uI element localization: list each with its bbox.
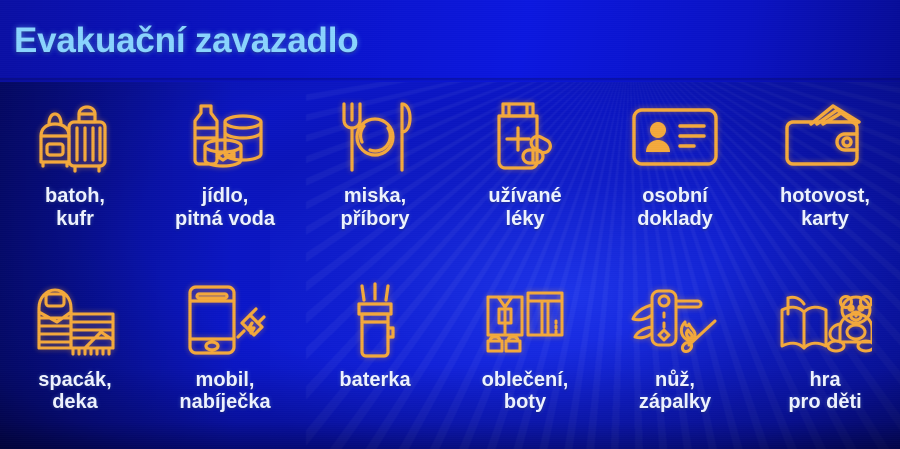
item-label: oblečení, boty (482, 369, 569, 414)
wallet-cards-icon (770, 94, 880, 180)
medicine-bottle-pills-icon (470, 94, 580, 180)
water-bottle-canned-food-icon (170, 94, 280, 180)
item-miska-pribory: miska, příbory (300, 82, 450, 266)
item-label: baterka (339, 369, 410, 392)
item-baterka: baterka (300, 266, 450, 449)
id-card-icon (620, 94, 730, 180)
item-obleceni-boty: oblečení, boty (450, 266, 600, 449)
mobile-phone-charger-icon (170, 278, 280, 364)
item-label: batoh, kufr (45, 185, 105, 230)
flashlight-icon (320, 278, 430, 364)
item-label: jídlo, pitná voda (175, 185, 275, 230)
item-uzivane-leky: užívané léky (450, 82, 600, 266)
page-title: Evakuační zavazadlo (14, 21, 358, 61)
item-osobni-doklady: osobní doklady (600, 82, 750, 266)
pocket-knife-matches-icon (620, 278, 730, 364)
item-nuz-zapalky: nůž, zápalky (600, 266, 750, 449)
clothes-shoes-icon (470, 278, 580, 364)
item-mobil-nabijecka: mobil, nabíječka (150, 266, 300, 449)
evacuation-bag-infographic: Evakuační zavazadlo (0, 0, 900, 449)
item-label: miska, příbory (341, 185, 410, 230)
header-band: Evakuační zavazadlo (0, 0, 900, 82)
item-label: nůž, zápalky (639, 369, 711, 414)
plate-fork-knife-icon (320, 94, 430, 180)
items-grid: batoh, kufr jí (0, 82, 900, 449)
item-jidlo-pitna-voda: jídlo, pitná voda (150, 82, 300, 266)
item-label: hra pro děti (788, 369, 861, 414)
item-hotovost-karty: hotovost, karty (750, 82, 900, 266)
item-label: užívané léky (488, 185, 561, 230)
item-label: hotovost, karty (780, 185, 870, 230)
item-batoh-kufr: batoh, kufr (0, 82, 150, 266)
backpack-suitcase-icon (20, 94, 130, 180)
item-label: osobní doklady (637, 185, 713, 230)
item-hra-pro-deti: hra pro děti (750, 266, 900, 449)
item-label: spacák, deka (38, 369, 111, 414)
sleeping-bag-blanket-icon (20, 278, 130, 364)
book-teddy-bear-icon (770, 278, 880, 364)
item-label: mobil, nabíječka (179, 369, 270, 414)
item-spacak-deka: spacák, deka (0, 266, 150, 449)
